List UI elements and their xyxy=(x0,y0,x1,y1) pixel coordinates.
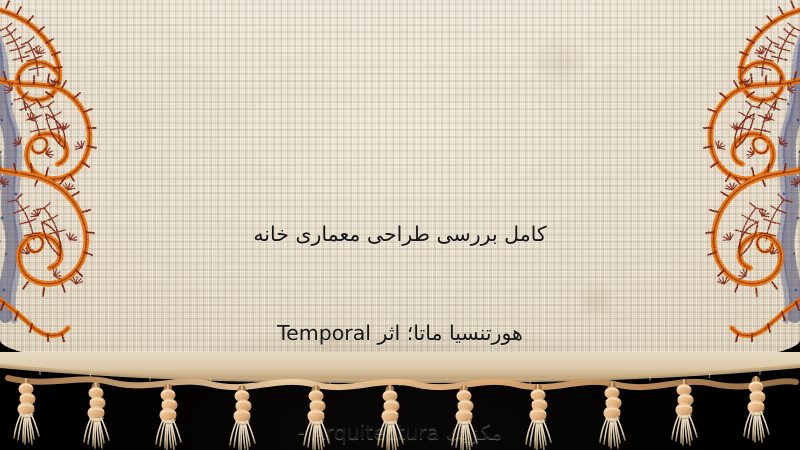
caption-line-1: کامل بررسی طراحی معماری خانه xyxy=(0,218,800,251)
image-canvas: کامل بررسی طراحی معماری خانه هورتنسيا ما… xyxy=(0,0,800,450)
tassel xyxy=(14,380,769,450)
knotted-tassel-fringe xyxy=(0,352,800,450)
caption-line-2: هورتنسيا ماتا؛ اثر Temporal xyxy=(0,317,800,350)
